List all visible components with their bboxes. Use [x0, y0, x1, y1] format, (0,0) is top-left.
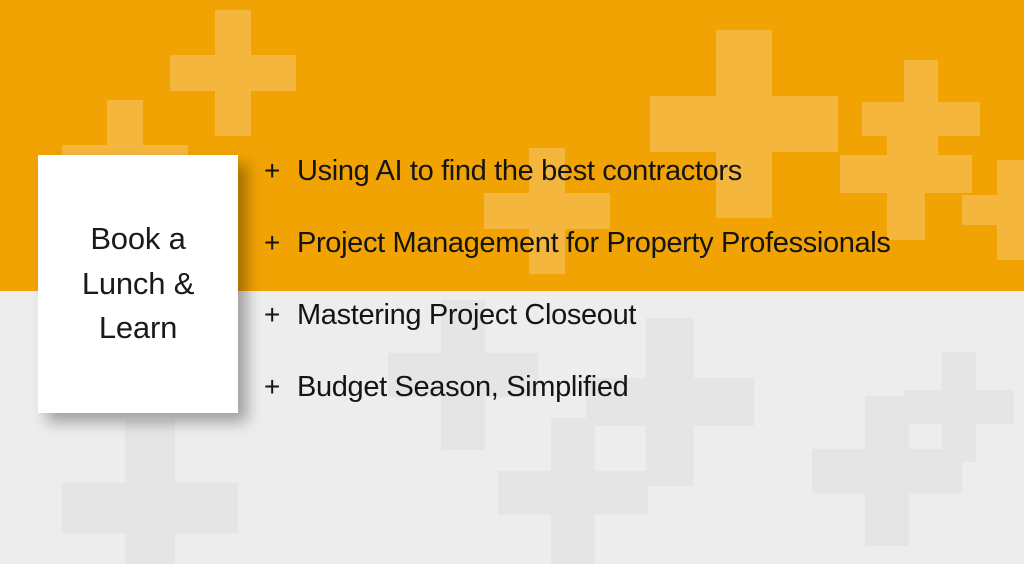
session-item-budget-season[interactable]: + Budget Season, Simplified — [264, 371, 1012, 443]
session-item-project-management[interactable]: + Project Management for Property Profes… — [264, 227, 1012, 299]
plus-horizontal-bar — [62, 483, 238, 533]
plus-icon: + — [264, 227, 297, 259]
session-item-using-ai[interactable]: + Using AI to find the best contractors — [264, 155, 1012, 227]
card-text-block: Book a Lunch & Learn — [74, 217, 202, 351]
plus-horizontal-bar — [170, 55, 296, 91]
session-label: Mastering Project Closeout — [297, 299, 636, 332]
plus-icon: + — [264, 371, 297, 403]
plus-horizontal-bar — [650, 96, 838, 152]
decorative-plus-icon — [170, 10, 296, 136]
card-line-1: Book a — [82, 217, 194, 262]
session-label: Budget Season, Simplified — [297, 371, 628, 404]
plus-icon: + — [264, 155, 297, 187]
session-item-project-closeout[interactable]: + Mastering Project Closeout — [264, 299, 1012, 371]
plus-horizontal-bar — [498, 471, 648, 515]
card-line-3: Learn — [82, 306, 194, 351]
session-label: Project Management for Property Professi… — [297, 227, 891, 260]
slide-canvas: Book a Lunch & Learn + Using AI to find … — [0, 0, 1024, 564]
decorative-plus-icon — [62, 420, 238, 564]
session-topic-list: + Using AI to find the best contractors … — [264, 155, 1012, 443]
card-line-2: Lunch & — [82, 262, 194, 307]
book-a-lunch-and-learn-card[interactable]: Book a Lunch & Learn — [38, 155, 238, 413]
plus-icon: + — [264, 299, 297, 331]
session-label: Using AI to find the best contractors — [297, 155, 742, 188]
plus-horizontal-bar — [812, 449, 962, 493]
